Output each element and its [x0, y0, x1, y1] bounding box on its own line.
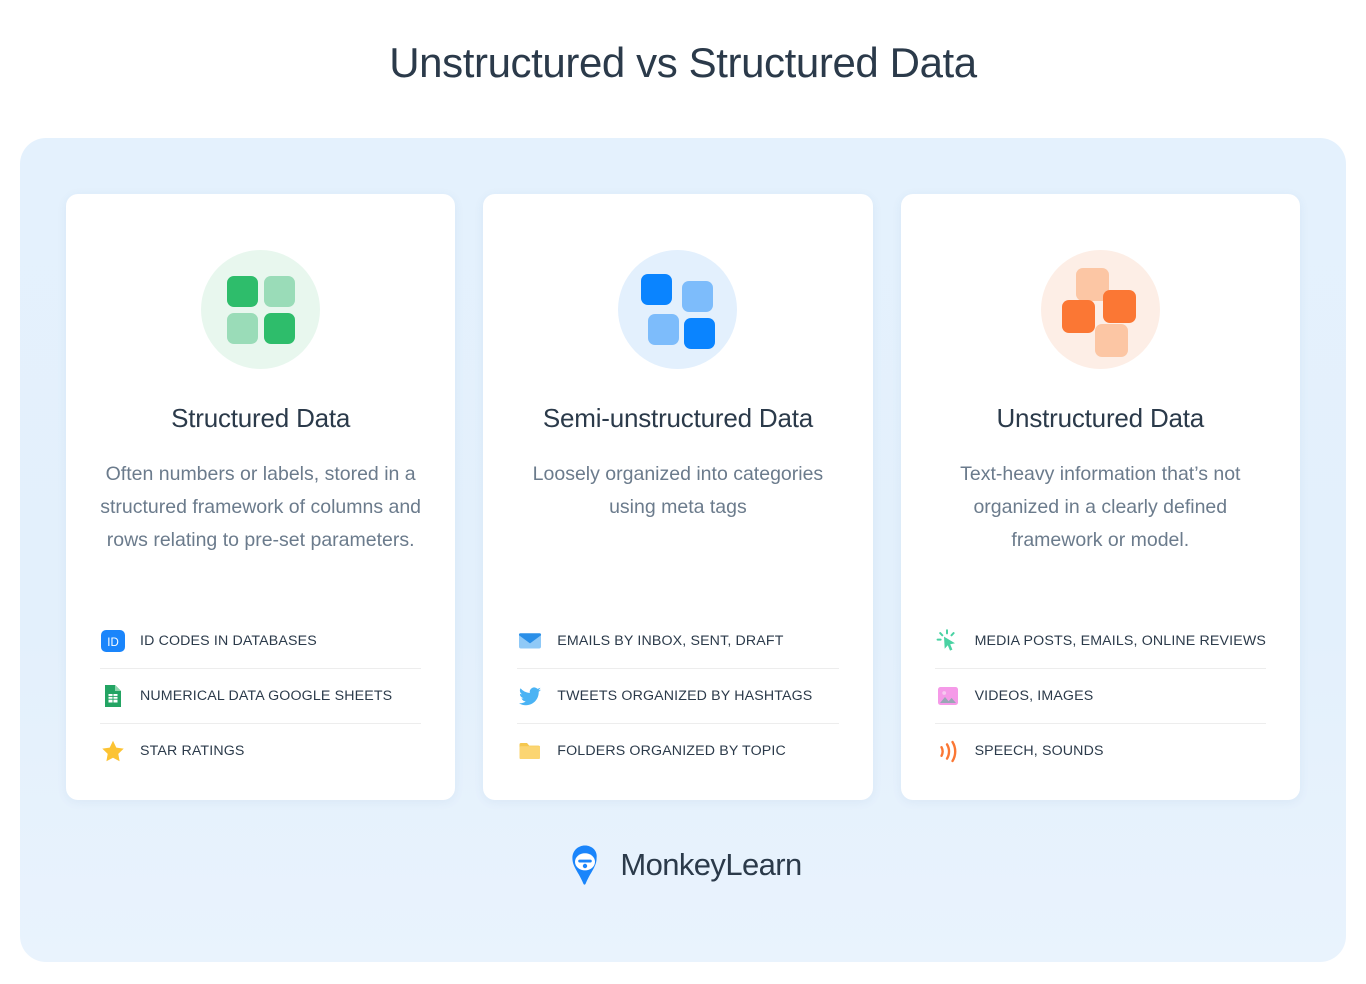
- card-description: Often numbers or labels, stored in a str…: [100, 458, 421, 557]
- list-item[interactable]: TWEETS ORGANIZED BY HASHTAGS: [517, 668, 838, 723]
- card-title: Semi-unstructured Data: [543, 403, 813, 434]
- page-title: Unstructured vs Structured Data: [0, 38, 1366, 88]
- list-item-label: MEDIA POSTS, EMAILS, ONLINE REVIEWS: [975, 633, 1266, 649]
- sound-waves-icon: [935, 738, 961, 764]
- list-item-label: TWEETS ORGANIZED BY HASHTAGS: [557, 688, 812, 704]
- star-icon: [100, 738, 126, 764]
- list-item[interactable]: EMAILS BY INBOX, SENT, DRAFT: [517, 613, 838, 668]
- card-semi-unstructured-data: Semi-unstructured Data Loosely organized…: [483, 194, 872, 800]
- brand-logo: MonkeyLearn: [20, 844, 1346, 886]
- monkeylearn-logo-icon: [564, 844, 606, 886]
- list-item-label: ID CODES IN DATABASES: [140, 633, 317, 649]
- card-title: Unstructured Data: [996, 403, 1204, 434]
- image-icon: [935, 683, 961, 709]
- cursor-click-icon: [935, 628, 961, 654]
- infographic-page: Unstructured vs Structured Data Structur…: [0, 0, 1366, 984]
- content-panel: Structured Data Often numbers or labels,…: [20, 138, 1346, 962]
- cards-row: Structured Data Often numbers or labels,…: [66, 194, 1300, 800]
- brand-name: MonkeyLearn: [620, 847, 801, 883]
- card-feature-list: MEDIA POSTS, EMAILS, ONLINE REVIEWS VIDE…: [935, 613, 1266, 800]
- list-item-label: NUMERICAL DATA GOOGLE SHEETS: [140, 688, 392, 704]
- list-item[interactable]: STAR RATINGS: [100, 723, 421, 778]
- unstructured-grid-icon: [1041, 250, 1160, 369]
- list-item-label: FOLDERS ORGANIZED BY TOPIC: [557, 743, 786, 759]
- list-item[interactable]: VIDEOS, IMAGES: [935, 668, 1266, 723]
- list-item[interactable]: NUMERICAL DATA GOOGLE SHEETS: [100, 668, 421, 723]
- card-description: Text-heavy information that’s not organi…: [935, 458, 1266, 557]
- list-item-label: VIDEOS, IMAGES: [975, 688, 1094, 704]
- list-item-label: EMAILS BY INBOX, SENT, DRAFT: [557, 633, 783, 649]
- card-feature-list: ID ID CODES IN DATABASES: [100, 613, 421, 800]
- list-item[interactable]: FOLDERS ORGANIZED BY TOPIC: [517, 723, 838, 778]
- card-title: Structured Data: [171, 403, 350, 434]
- list-item-label: SPEECH, SOUNDS: [975, 743, 1104, 759]
- structured-grid-icon: [201, 250, 320, 369]
- card-feature-list: EMAILS BY INBOX, SENT, DRAFT TWEETS ORGA…: [517, 613, 838, 800]
- google-sheets-icon: [100, 683, 126, 709]
- list-item[interactable]: ID ID CODES IN DATABASES: [100, 613, 421, 668]
- envelope-icon: [517, 628, 543, 654]
- card-description: Loosely organized into categories using …: [517, 458, 838, 524]
- card-unstructured-data: Unstructured Data Text-heavy information…: [901, 194, 1300, 800]
- list-item-label: STAR RATINGS: [140, 743, 245, 759]
- twitter-icon: [517, 683, 543, 709]
- card-structured-data: Structured Data Often numbers or labels,…: [66, 194, 455, 800]
- list-item[interactable]: MEDIA POSTS, EMAILS, ONLINE REVIEWS: [935, 613, 1266, 668]
- id-badge-icon: ID: [100, 628, 126, 654]
- list-item[interactable]: SPEECH, SOUNDS: [935, 723, 1266, 778]
- folder-icon: [517, 738, 543, 764]
- semi-structured-grid-icon: [618, 250, 737, 369]
- svg-text:ID: ID: [107, 637, 119, 649]
